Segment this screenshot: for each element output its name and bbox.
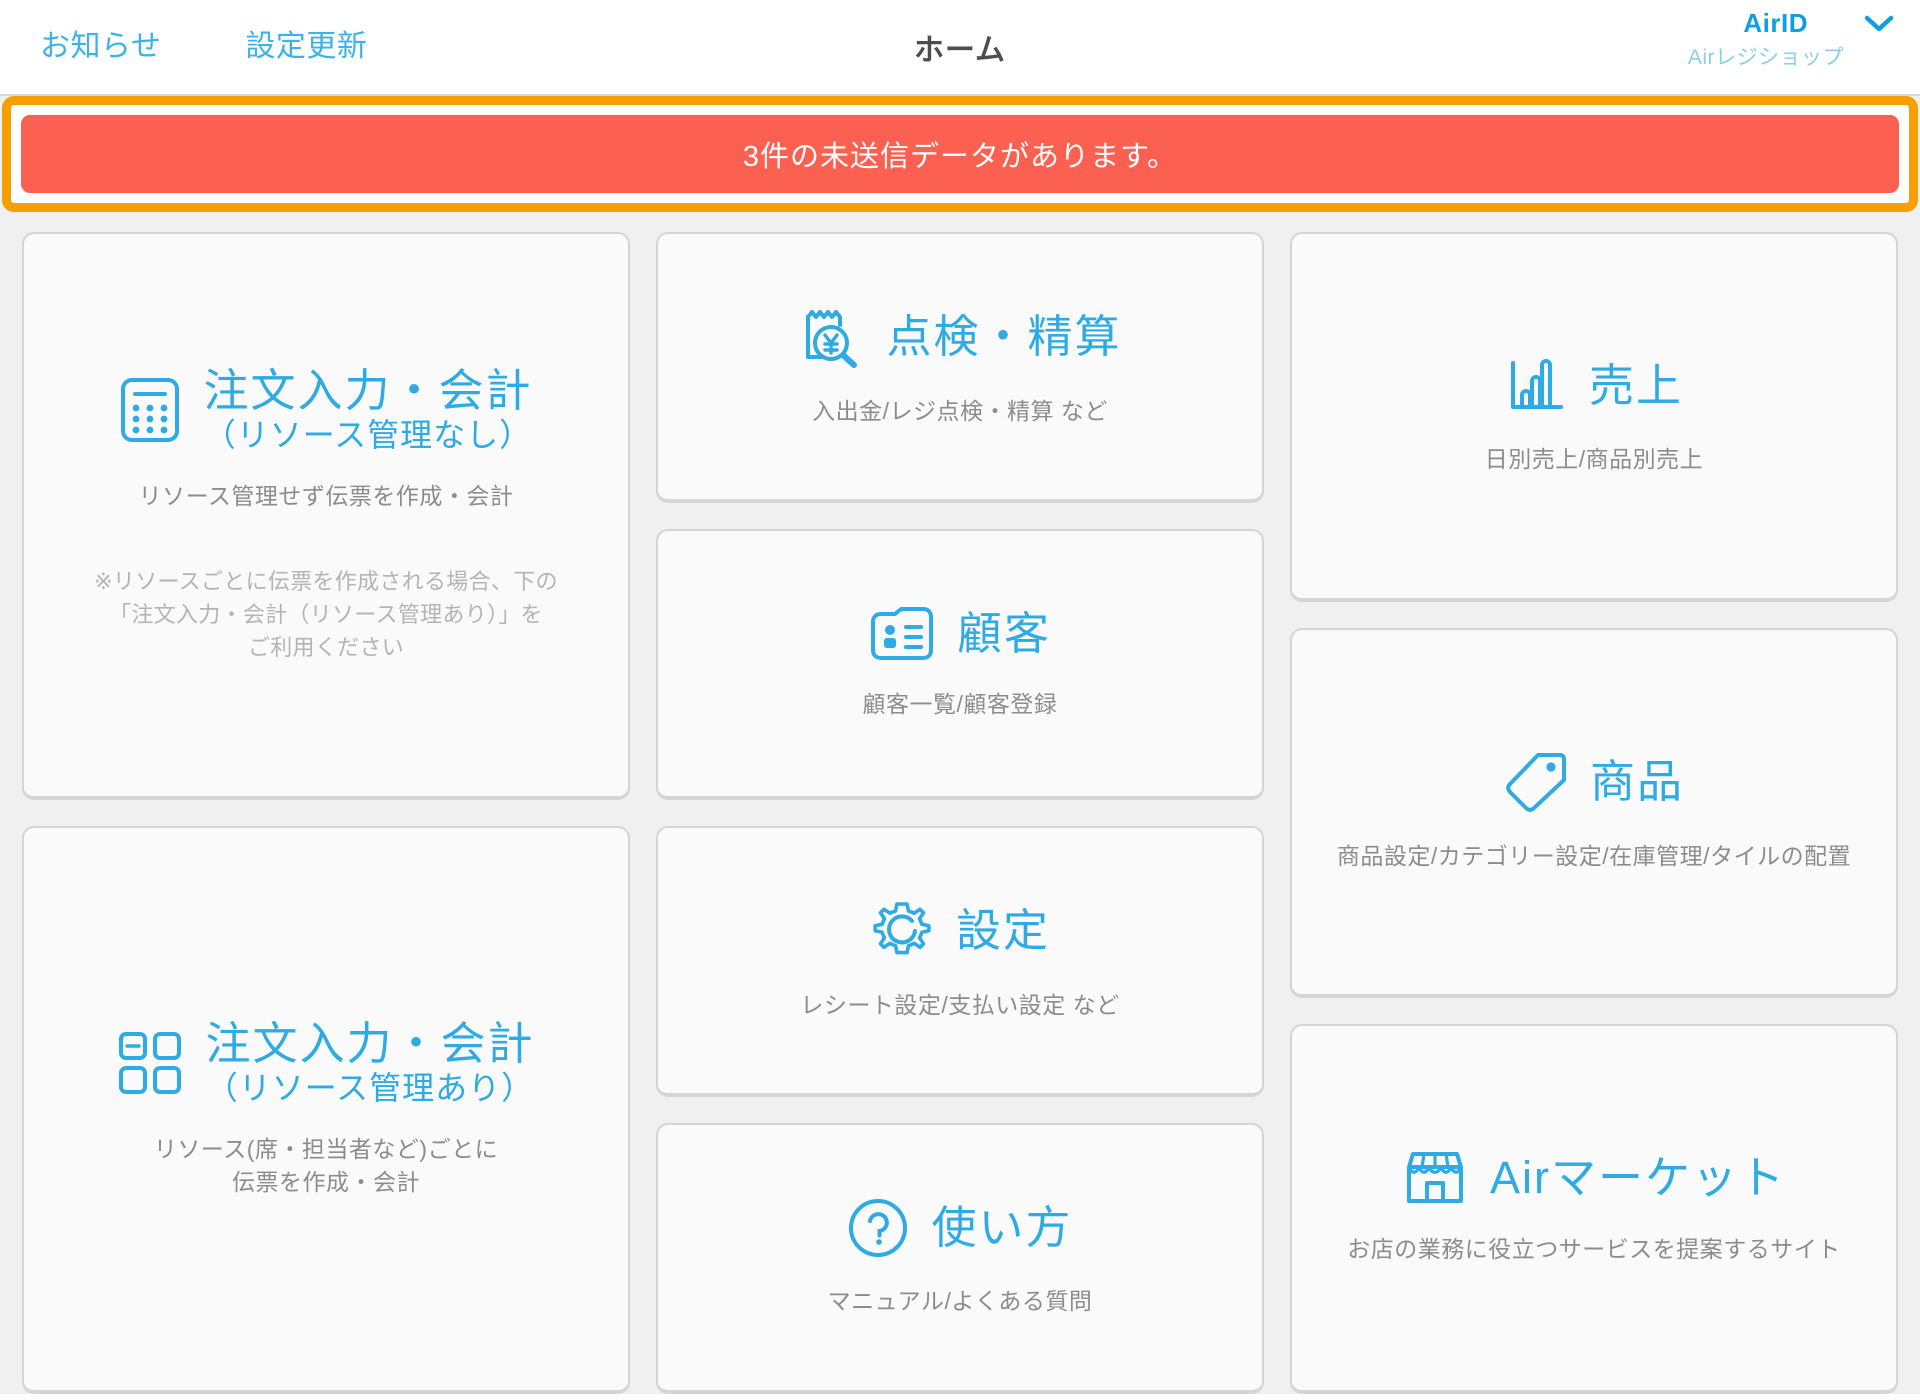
- tile-customer[interactable]: 顧客 顧客一覧/顧客登録: [656, 529, 1264, 800]
- price-tag-icon: [1504, 750, 1568, 814]
- alert-region: 3件の未送信データがあります。: [0, 96, 1920, 212]
- tile-title: 顧客: [957, 609, 1051, 659]
- tile-note: ※リソースごとに伝票を作成される場合、下の 「注文入力・会計（リソース管理あり）…: [94, 565, 558, 664]
- tile-product[interactable]: 商品 商品設定/カテゴリー設定/在庫管理/タイルの配置: [1290, 628, 1898, 998]
- tile-header: 注文入力・会計 （リソース管理あり）: [117, 1019, 534, 1107]
- tile-title: 設定: [956, 906, 1050, 956]
- tile-description: 入出金/レジ点検・精算 など: [812, 395, 1108, 428]
- grid-column-left: 注文入力・会計 （リソース管理なし） リソース管理せず伝票を作成・会計 ※リソー…: [22, 232, 630, 1394]
- tile-title: 商品: [1590, 757, 1684, 807]
- tile-title: 売上: [1589, 361, 1683, 411]
- tile-title-main: 注文入力・会計: [205, 1018, 534, 1069]
- tile-description: リソース(席・担当者など)ごとに 伝票を作成・会計: [154, 1133, 498, 1200]
- unsent-data-alert-banner[interactable]: 3件の未送信データがあります。: [21, 115, 1899, 193]
- tile-description: 顧客一覧/顧客登録: [863, 688, 1058, 721]
- tile-description: お店の業務に役立つサービスを提案するサイト: [1347, 1233, 1841, 1266]
- tile-description: リソース管理せず伝票を作成・会計: [139, 480, 514, 513]
- account-menu[interactable]: AirID Airレジショップ: [1688, 8, 1894, 71]
- receipt-search-yen-icon: [798, 305, 864, 369]
- tile-title: 注文入力・会計 （リソース管理なし）: [203, 366, 532, 454]
- tile-header: Airマーケット: [1402, 1149, 1786, 1207]
- header-link-notifications[interactable]: お知らせ: [40, 32, 161, 62]
- tile-title: 使い方: [931, 1203, 1072, 1253]
- tile-header: 使い方: [847, 1197, 1072, 1259]
- tile-header: 売上: [1505, 355, 1683, 417]
- gear-icon: [870, 899, 934, 963]
- tile-title: 注文入力・会計 （リソース管理あり）: [205, 1019, 534, 1107]
- grid-column-middle: 点検・精算 入出金/レジ点検・精算 など 顧客 顧客一覧/顧: [656, 232, 1264, 1394]
- tile-settings[interactable]: 設定 レシート設定/支払い設定 など: [656, 826, 1264, 1097]
- tile-note-line1: ※リソースごとに伝票を作成される場合、下の: [94, 569, 558, 594]
- tile-header: 点検・精算: [798, 305, 1121, 369]
- tile-header: 顧客: [869, 606, 1051, 662]
- header-link-settings-update[interactable]: 設定更新: [245, 32, 367, 62]
- tile-description: 日別売上/商品別売上: [1485, 443, 1703, 476]
- contact-card-icon: [869, 606, 935, 662]
- tile-header: 商品: [1504, 750, 1684, 814]
- tile-title: 点検・精算: [886, 312, 1121, 362]
- storefront-icon: [1402, 1149, 1468, 1207]
- account-shop-label: Airレジショップ: [1688, 41, 1844, 71]
- chevron-down-icon[interactable]: [1864, 14, 1894, 34]
- home-tile-grid: 注文入力・会計 （リソース管理なし） リソース管理せず伝票を作成・会計 ※リソー…: [0, 212, 1920, 1394]
- alert-highlight-outline: 3件の未送信データがあります。: [2, 96, 1918, 212]
- tile-desc-line1: リソース(席・担当者など)ごとに: [154, 1136, 498, 1162]
- bar-chart-icon: [1505, 355, 1567, 417]
- tile-order-entry-no-resource[interactable]: 注文入力・会計 （リソース管理なし） リソース管理せず伝票を作成・会計 ※リソー…: [22, 232, 630, 800]
- app-header: お知らせ 設定更新 ホーム AirID Airレジショップ: [0, 0, 1920, 96]
- tile-header: 設定: [870, 899, 1050, 963]
- tile-title-subtitle: （リソース管理なし）: [203, 418, 532, 454]
- tile-note-line2: 「注文入力・会計（リソース管理あり）」を: [109, 602, 543, 627]
- grid-tiles-icon: [117, 1030, 183, 1096]
- account-row: AirID: [1743, 8, 1894, 39]
- tile-title-main: 注文入力・会計: [203, 365, 532, 416]
- header-nav: お知らせ 設定更新: [0, 32, 367, 62]
- tile-inspection-settlement[interactable]: 点検・精算 入出金/レジ点検・精算 など: [656, 232, 1264, 503]
- tile-order-entry-with-resource[interactable]: 注文入力・会計 （リソース管理あり） リソース(席・担当者など)ごとに 伝票を作…: [22, 826, 630, 1394]
- grid-column-right: 売上 日別売上/商品別売上 商品 商品設定/カテゴリー設定/在庫管理/タイルの配…: [1290, 232, 1898, 1394]
- account-id-label: AirID: [1743, 8, 1808, 39]
- alert-message: 3件の未送信データがあります。: [743, 133, 1177, 175]
- tile-header: 注文入力・会計 （リソース管理なし）: [119, 366, 532, 454]
- tile-title-subtitle: （リソース管理あり）: [205, 1071, 534, 1107]
- question-circle-icon: [847, 1197, 909, 1259]
- tile-description: マニュアル/よくある質問: [828, 1285, 1093, 1318]
- tile-desc-line2: 伝票を作成・会計: [232, 1169, 420, 1195]
- tile-how-to-use[interactable]: 使い方 マニュアル/よくある質問: [656, 1123, 1264, 1394]
- calculator-icon: [119, 377, 181, 443]
- tile-title: Airマーケット: [1490, 1153, 1786, 1203]
- tile-description: 商品設定/カテゴリー設定/在庫管理/タイルの配置: [1337, 840, 1851, 873]
- tile-description: レシート設定/支払い設定 など: [800, 989, 1119, 1022]
- tile-note-line3: ご利用ください: [248, 635, 404, 660]
- tile-air-market[interactable]: Airマーケット お店の業務に役立つサービスを提案するサイト: [1290, 1024, 1898, 1394]
- tile-sales[interactable]: 売上 日別売上/商品別売上: [1290, 232, 1898, 602]
